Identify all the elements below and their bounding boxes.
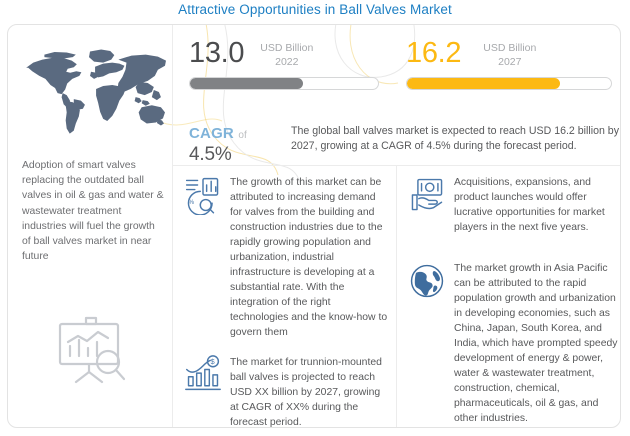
stat-2027-value: 16.2 bbox=[406, 39, 461, 68]
world-map-icon bbox=[14, 35, 166, 140]
content-frame: Adoption of smart valves replacing the o… bbox=[7, 24, 621, 428]
presentation-chart-magnifier-icon bbox=[46, 310, 138, 388]
stat-2022-unit: USD Billion bbox=[260, 42, 313, 56]
block-acquisitions: Acquisitions, expansions, and product la… bbox=[407, 175, 619, 235]
page-title: Attractive Opportunities in Ball Valves … bbox=[0, 2, 630, 17]
stat-2027-bar-fill bbox=[407, 78, 560, 89]
horizontal-divider bbox=[173, 165, 621, 166]
vertical-divider bbox=[396, 165, 397, 428]
block-asia-pacific-text: The market growth in Asia Pacific can be… bbox=[454, 261, 619, 426]
stat-2027-unit: USD Billion bbox=[483, 42, 536, 56]
left-panel: Adoption of smart valves replacing the o… bbox=[8, 25, 173, 428]
infographic-page: Attractive Opportunities in Ball Valves … bbox=[0, 0, 630, 436]
stat-2027-year: 2027 bbox=[483, 56, 536, 70]
bar-chart-dollar-icon: $ bbox=[183, 355, 223, 428]
cagr-block: CAGR of 4.5% bbox=[189, 125, 291, 166]
hand-money-icon bbox=[407, 175, 447, 235]
chart-analysis-icon: % bbox=[183, 175, 223, 340]
block-growth-drivers-text: The growth of this market can be attribu… bbox=[230, 175, 389, 340]
left-panel-text: Adoption of smart valves replacing the o… bbox=[22, 158, 164, 264]
block-growth-drivers: % The growth of this market can be attri… bbox=[183, 175, 389, 340]
svg-text:$: $ bbox=[211, 357, 215, 366]
cagr-of-label: of bbox=[238, 130, 246, 141]
svg-text:%: % bbox=[188, 199, 194, 206]
block-acquisitions-text: Acquisitions, expansions, and product la… bbox=[454, 175, 619, 235]
stat-2022-year: 2022 bbox=[260, 56, 313, 70]
cagr-value: 4.5% bbox=[189, 144, 291, 166]
stat-2027: 16.2 USD Billion 2027 bbox=[406, 39, 612, 90]
stat-2027-bar bbox=[406, 77, 612, 90]
stat-2022-value: 13.0 bbox=[189, 39, 244, 68]
block-asia-pacific: The market growth in Asia Pacific can be… bbox=[407, 261, 619, 426]
block-trunnion-mounted-text: The market for trunnion-mounted ball val… bbox=[230, 355, 389, 428]
globe-icon bbox=[407, 261, 447, 426]
cagr-label: CAGR bbox=[189, 125, 234, 142]
stat-2022-bar-fill bbox=[190, 78, 303, 89]
stat-2022-bar bbox=[189, 77, 379, 90]
lead-paragraph: The global ball valves market is expecte… bbox=[291, 124, 621, 154]
stat-2022: 13.0 USD Billion 2022 bbox=[189, 39, 379, 90]
block-trunnion-mounted: $ The market for trunnion-mounted ball v… bbox=[183, 355, 389, 428]
